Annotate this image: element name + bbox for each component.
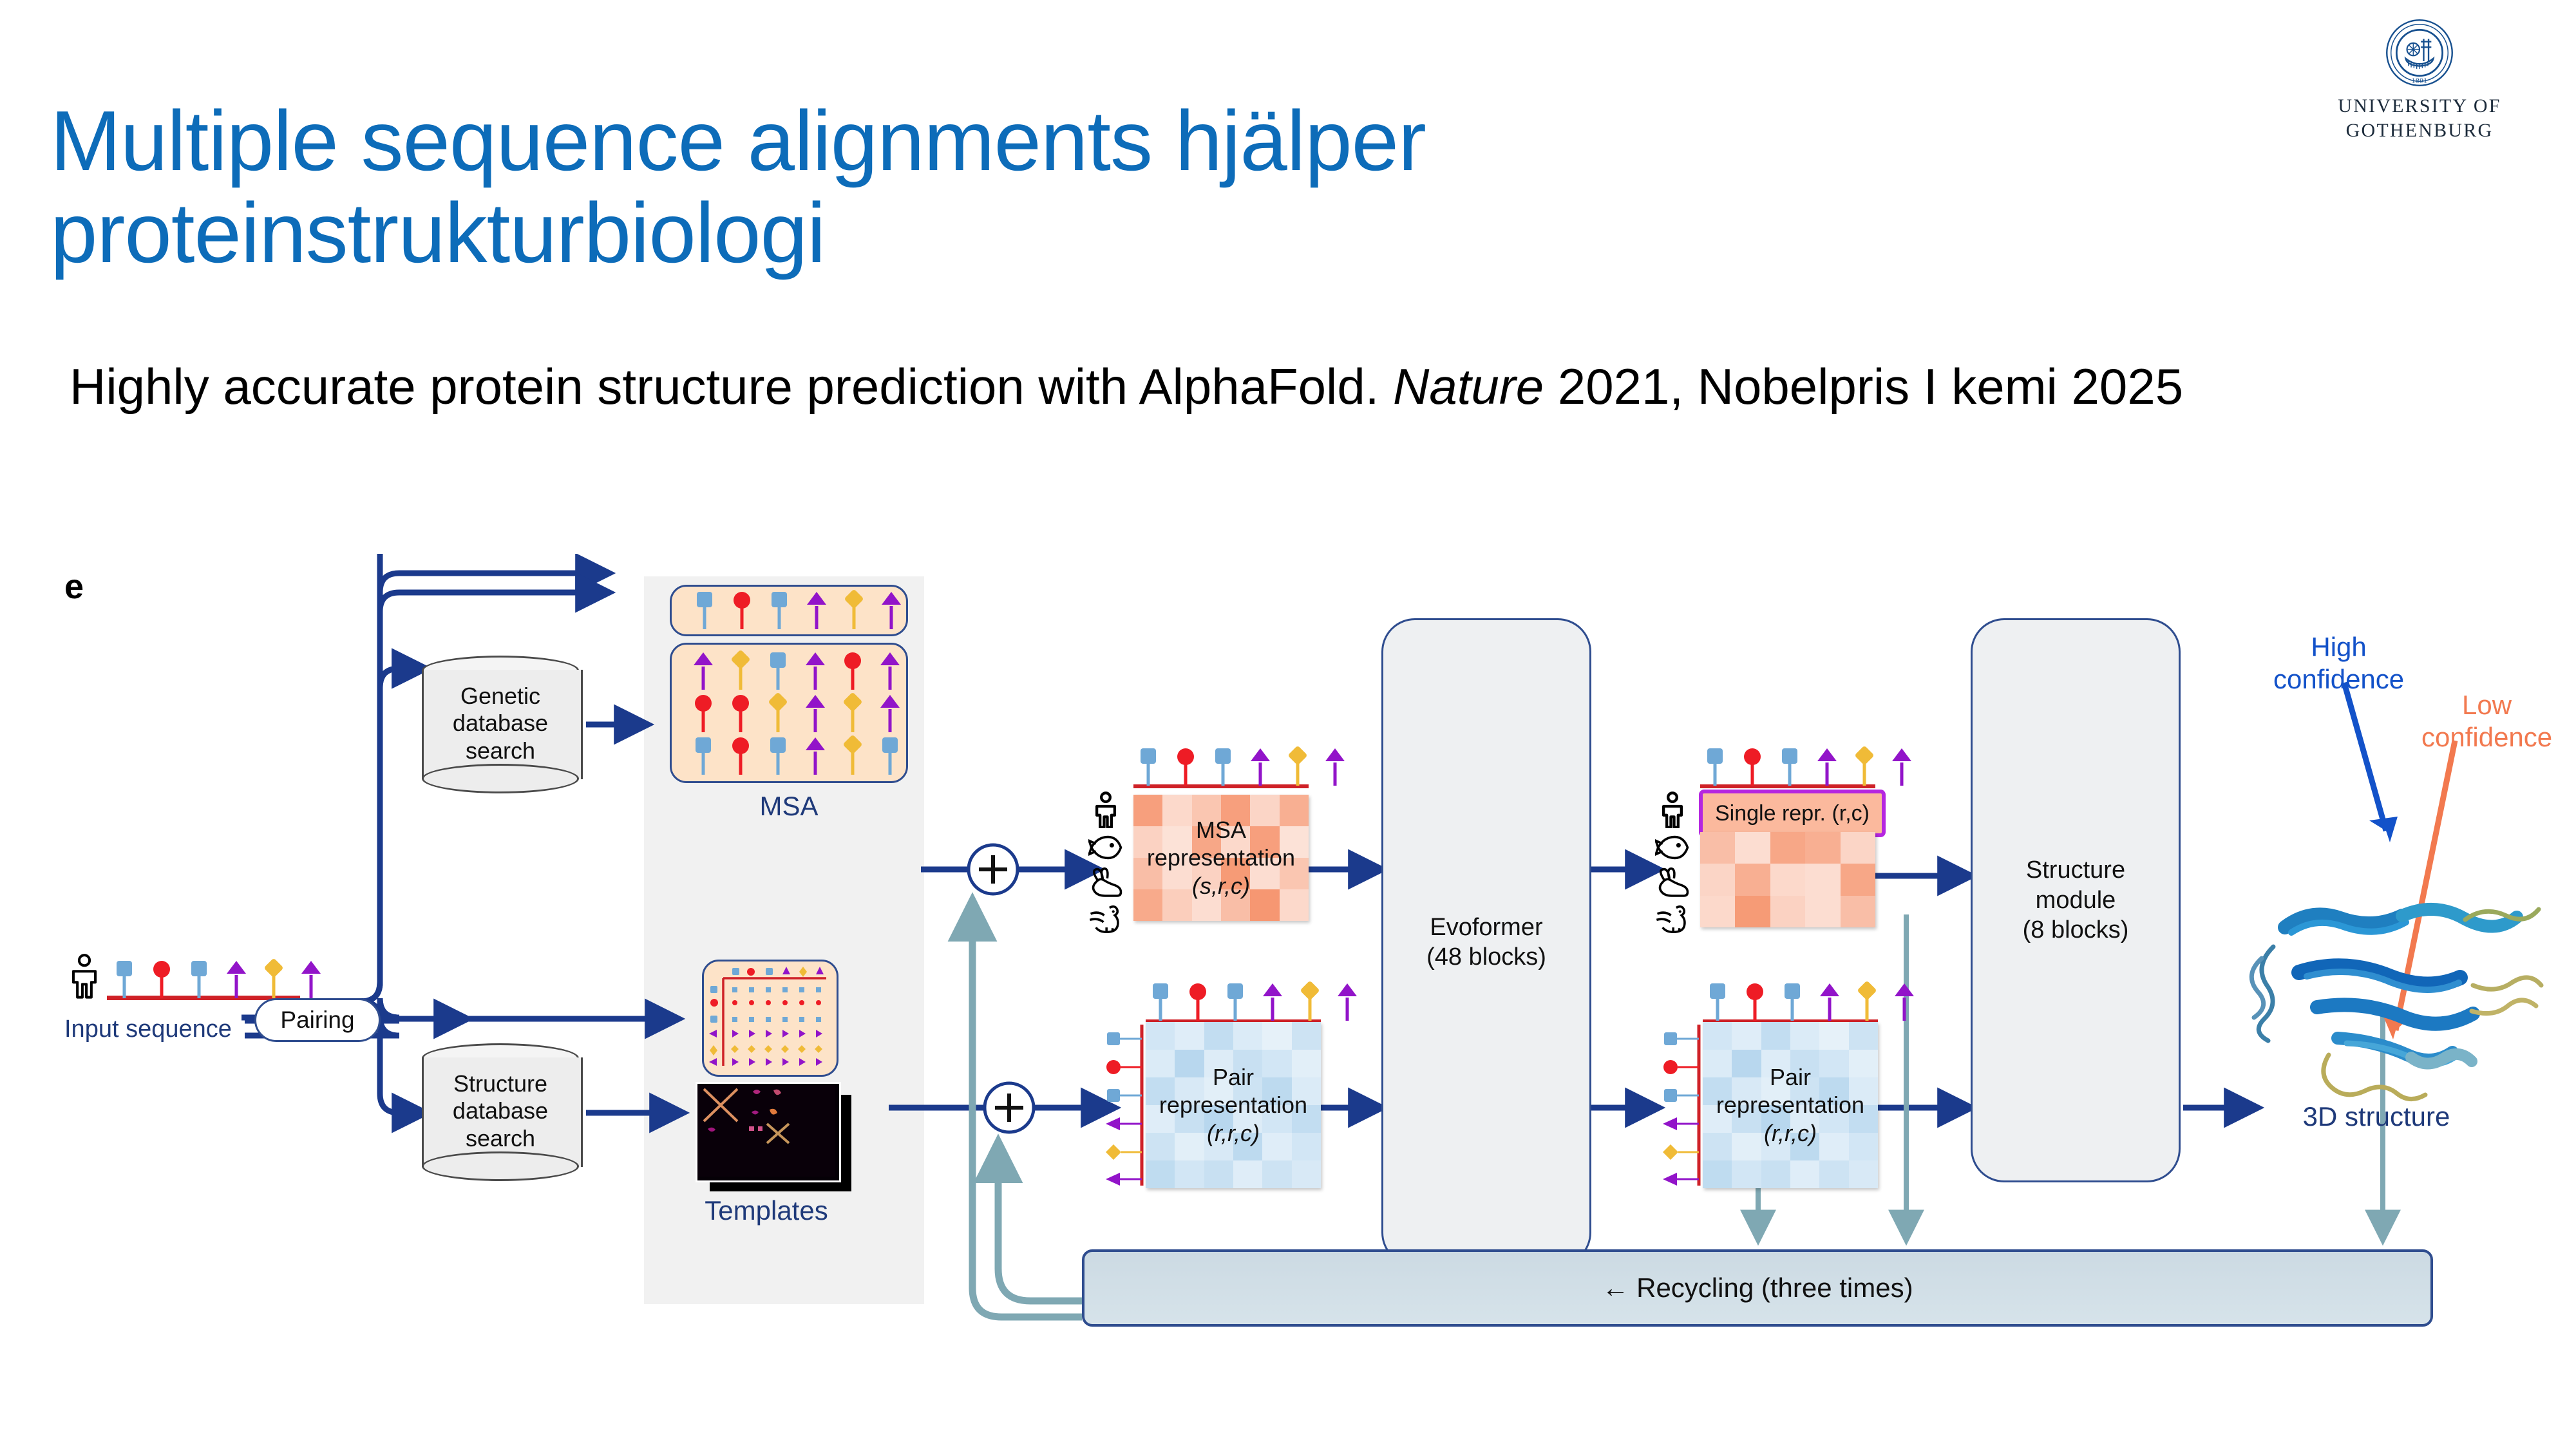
pair-representation-2-caption: Pair representation(r,r,c)	[1703, 1022, 1878, 1188]
residue-glyph-diamond_gold	[1850, 748, 1879, 786]
residue-glyph-circle_red	[1171, 748, 1200, 786]
matrix-cell	[1700, 832, 1735, 864]
msa-homologs-box	[670, 643, 908, 783]
residue-glyph-arrow_purple	[800, 737, 830, 775]
genetic-database-search[interactable]: Genetic database search	[422, 656, 583, 794]
matrix-cell	[1770, 864, 1805, 895]
recycling-bar[interactable]: ← Recycling (three times)	[1082, 1249, 2433, 1327]
matrix-cell	[1700, 864, 1735, 895]
residue-glyph-circle_red	[726, 737, 755, 775]
msa-query-row-box	[670, 585, 908, 636]
matrix-cell	[1805, 832, 1840, 864]
alphafold-architecture-figure: e	[0, 554, 2576, 1449]
residue-glyph-arrow_purple	[875, 695, 905, 732]
row-residue-glyphs	[1104, 1022, 1146, 1188]
pairing-node[interactable]: Pairing	[254, 998, 381, 1042]
pair-representation-2-matrix: Pair representation(r,r,c)	[1703, 1022, 1878, 1188]
residue-glyph-circle_red	[1183, 983, 1213, 1021]
column-residues	[1146, 982, 1370, 1022]
cylinder-bottom	[422, 764, 579, 793]
residue-glyph-arrow_purple	[1320, 748, 1350, 786]
residue-glyph-diamond_gold	[763, 695, 793, 732]
human-icon	[1088, 791, 1123, 828]
msa-label: MSA	[670, 791, 908, 822]
structure-database-label: Structure database search	[422, 1070, 579, 1152]
fish-icon	[1088, 831, 1123, 864]
high-confidence-label: High confidence	[2273, 631, 2404, 696]
residue-glyph-diamond_gold	[1852, 983, 1882, 1021]
residue-glyph-arrow_purple	[1245, 748, 1275, 786]
cylinder-bottom	[422, 1151, 579, 1181]
residue-glyph-diamond_gold	[259, 961, 289, 998]
residue-glyph-diamond_gold	[1283, 748, 1312, 786]
human-icon	[64, 953, 104, 999]
residue-glyph-square_blue	[764, 592, 794, 629]
matrix-cell	[1805, 864, 1840, 895]
residue-glyph-square_blue	[184, 961, 214, 998]
evoformer-label: Evoformer (48 blocks)	[1426, 913, 1546, 972]
templates-label: Templates	[676, 1195, 857, 1226]
msa-group: MSA	[670, 585, 908, 822]
matrix-cell	[1700, 896, 1735, 927]
residue-glyph-square_blue	[1208, 748, 1238, 786]
msa-row-residues	[690, 591, 914, 630]
matrix-cell	[1805, 896, 1840, 927]
residue-glyph-arrow_purple	[222, 961, 251, 998]
species-column-icons	[1655, 791, 1690, 938]
residue-glyph-arrow_purple	[800, 652, 830, 690]
residue-glyph-arrow_purple	[1815, 983, 1844, 1021]
column-residues	[1700, 747, 1924, 787]
low-confidence-label: Low confidence	[2421, 689, 2552, 754]
matrix-cell	[1770, 896, 1805, 927]
subtitle-text-2: 2021, Nobelpris I kemi 2025	[1544, 358, 2183, 415]
residue-glyph-square_blue	[1133, 748, 1163, 786]
plus-circle-icon	[966, 842, 1020, 896]
residue-glyph-square_blue	[690, 592, 719, 629]
residue-glyph-square_blue	[1220, 983, 1250, 1021]
chicken-icon	[1088, 902, 1123, 934]
university-logo: 1891 UNIVERSITY OF GOTHENBURG	[2313, 18, 2526, 142]
residue-glyph-diamond_gold	[726, 652, 755, 690]
residue-glyph-arrow_purple	[1889, 983, 1919, 1021]
rabbit-icon	[1655, 867, 1690, 899]
chicken-icon	[1655, 902, 1690, 934]
residue-glyph-circle_red	[838, 652, 867, 690]
residue-glyph-circle_red	[1738, 748, 1767, 786]
structure-3d-label: 3D structure	[2222, 1101, 2531, 1132]
subtitle-journal-name: Nature	[1393, 358, 1544, 415]
residue-glyph-square_blue	[109, 961, 139, 998]
residue-glyph-arrow_purple	[1332, 983, 1362, 1021]
msa-repr-column-header	[1133, 747, 1358, 788]
residue-glyph-square_blue	[688, 737, 718, 775]
genetic-database-label: Genetic database search	[422, 683, 579, 764]
pair-representation-1-matrix: Pair representation(r,r,c)	[1146, 1022, 1321, 1188]
subtitle-text-1: Highly accurate protein structure predic…	[70, 358, 1393, 415]
plus-circle-icon	[982, 1081, 1036, 1135]
residue-glyph-arrow_purple	[688, 652, 718, 690]
rabbit-icon	[1088, 867, 1123, 899]
row-residue-glyphs	[1662, 1022, 1703, 1188]
residue-glyph-arrow_purple	[1812, 748, 1842, 786]
residue-glyph-square_blue	[1775, 748, 1804, 786]
protein-ribbon-illustration	[2209, 850, 2544, 1108]
university-seal-icon: 1891	[2385, 18, 2454, 88]
residue-glyph-square_blue	[1703, 983, 1732, 1021]
residue-glyph-circle_red	[147, 961, 176, 998]
input-sequence-residues	[109, 960, 334, 999]
residue-glyph-arrow_purple	[1258, 983, 1287, 1021]
msa-row-residues	[688, 694, 913, 734]
msa-row-residues	[688, 651, 913, 691]
residue-glyph-diamond_gold	[838, 695, 867, 732]
panel-label: e	[64, 567, 84, 607]
page-title: Multiple sequence alignments hjälper pro…	[50, 95, 1918, 279]
species-column-icons	[1088, 791, 1123, 938]
msa-representation-matrix: MSA representation(s,r,c)	[1133, 795, 1309, 921]
matrix-cell	[1841, 864, 1875, 895]
residue-glyph-diamond_gold	[839, 592, 869, 629]
residue-glyph-arrow_purple	[875, 652, 905, 690]
university-name-line1: UNIVERSITY OF	[2313, 94, 2526, 118]
residue-glyph-arrow_purple	[296, 961, 326, 998]
pair1-row-header	[1104, 1022, 1146, 1191]
paired-matrix-glyphs	[704, 961, 837, 1075]
svg-text:1891: 1891	[2412, 77, 2428, 84]
residue-glyph-diamond_gold	[1295, 983, 1325, 1021]
university-name: UNIVERSITY OF GOTHENBURG	[2313, 94, 2526, 142]
matrix-cell	[1841, 896, 1875, 927]
column-residues	[1133, 747, 1358, 787]
fish-icon	[1655, 831, 1690, 864]
residue-glyph-square_blue	[875, 737, 905, 775]
single-representation-badge[interactable]: Single repr. (r,c)	[1699, 790, 1886, 837]
residue-glyph-circle_red	[1740, 983, 1770, 1021]
paired-residue-matrix	[702, 960, 838, 1077]
structure-module-block[interactable]: Structure module (8 blocks)	[1971, 618, 2181, 1182]
residue-glyph-square_blue	[763, 652, 793, 690]
column-residues	[1703, 982, 1927, 1022]
page-subtitle: Highly accurate protein structure predic…	[70, 357, 2259, 416]
pair1-column-header	[1146, 982, 1370, 1023]
msa-representation-caption: MSA representation(s,r,c)	[1133, 795, 1309, 921]
msa-row-residues	[688, 736, 913, 776]
residue-glyph-circle_red	[727, 592, 757, 629]
single-repr-column-header	[1700, 747, 1924, 788]
matrix-cell	[1770, 832, 1805, 864]
structure-database-search[interactable]: Structure database search	[422, 1043, 583, 1182]
residue-glyph-square_blue	[1700, 748, 1730, 786]
residue-glyph-square_blue	[1146, 983, 1175, 1021]
pair2-row-header	[1662, 1022, 1703, 1191]
residue-glyph-square_blue	[1777, 983, 1807, 1021]
residue-glyph-arrow_purple	[800, 695, 830, 732]
evoformer-block[interactable]: Evoformer (48 blocks)	[1381, 618, 1591, 1266]
contact-map-icon	[697, 1084, 835, 1177]
matrix-cell	[1735, 832, 1770, 864]
single-representation-matrix	[1700, 832, 1875, 927]
residue-glyph-arrow_purple	[876, 592, 906, 629]
residue-glyph-circle_red	[688, 695, 718, 732]
residue-glyph-arrow_purple	[802, 592, 831, 629]
structure-module-label: Structure module (8 blocks)	[2023, 855, 2129, 945]
university-name-line2: GOTHENBURG	[2313, 118, 2526, 143]
matrix-cell	[1841, 832, 1875, 864]
residue-glyph-diamond_gold	[838, 737, 867, 775]
human-icon	[1655, 791, 1690, 828]
pair-representation-1-caption: Pair representation(r,r,c)	[1146, 1022, 1321, 1188]
residue-glyph-square_blue	[763, 737, 793, 775]
residue-glyph-arrow_purple	[1887, 748, 1917, 786]
matrix-cell	[1735, 896, 1770, 927]
pair-sum-node	[982, 1081, 1036, 1138]
residue-glyph-circle_red	[726, 695, 755, 732]
template-front-card[interactable]	[696, 1082, 841, 1182]
pair2-column-header	[1703, 982, 1927, 1023]
msa-sum-node	[966, 842, 1020, 900]
matrix-cell	[1735, 864, 1770, 895]
